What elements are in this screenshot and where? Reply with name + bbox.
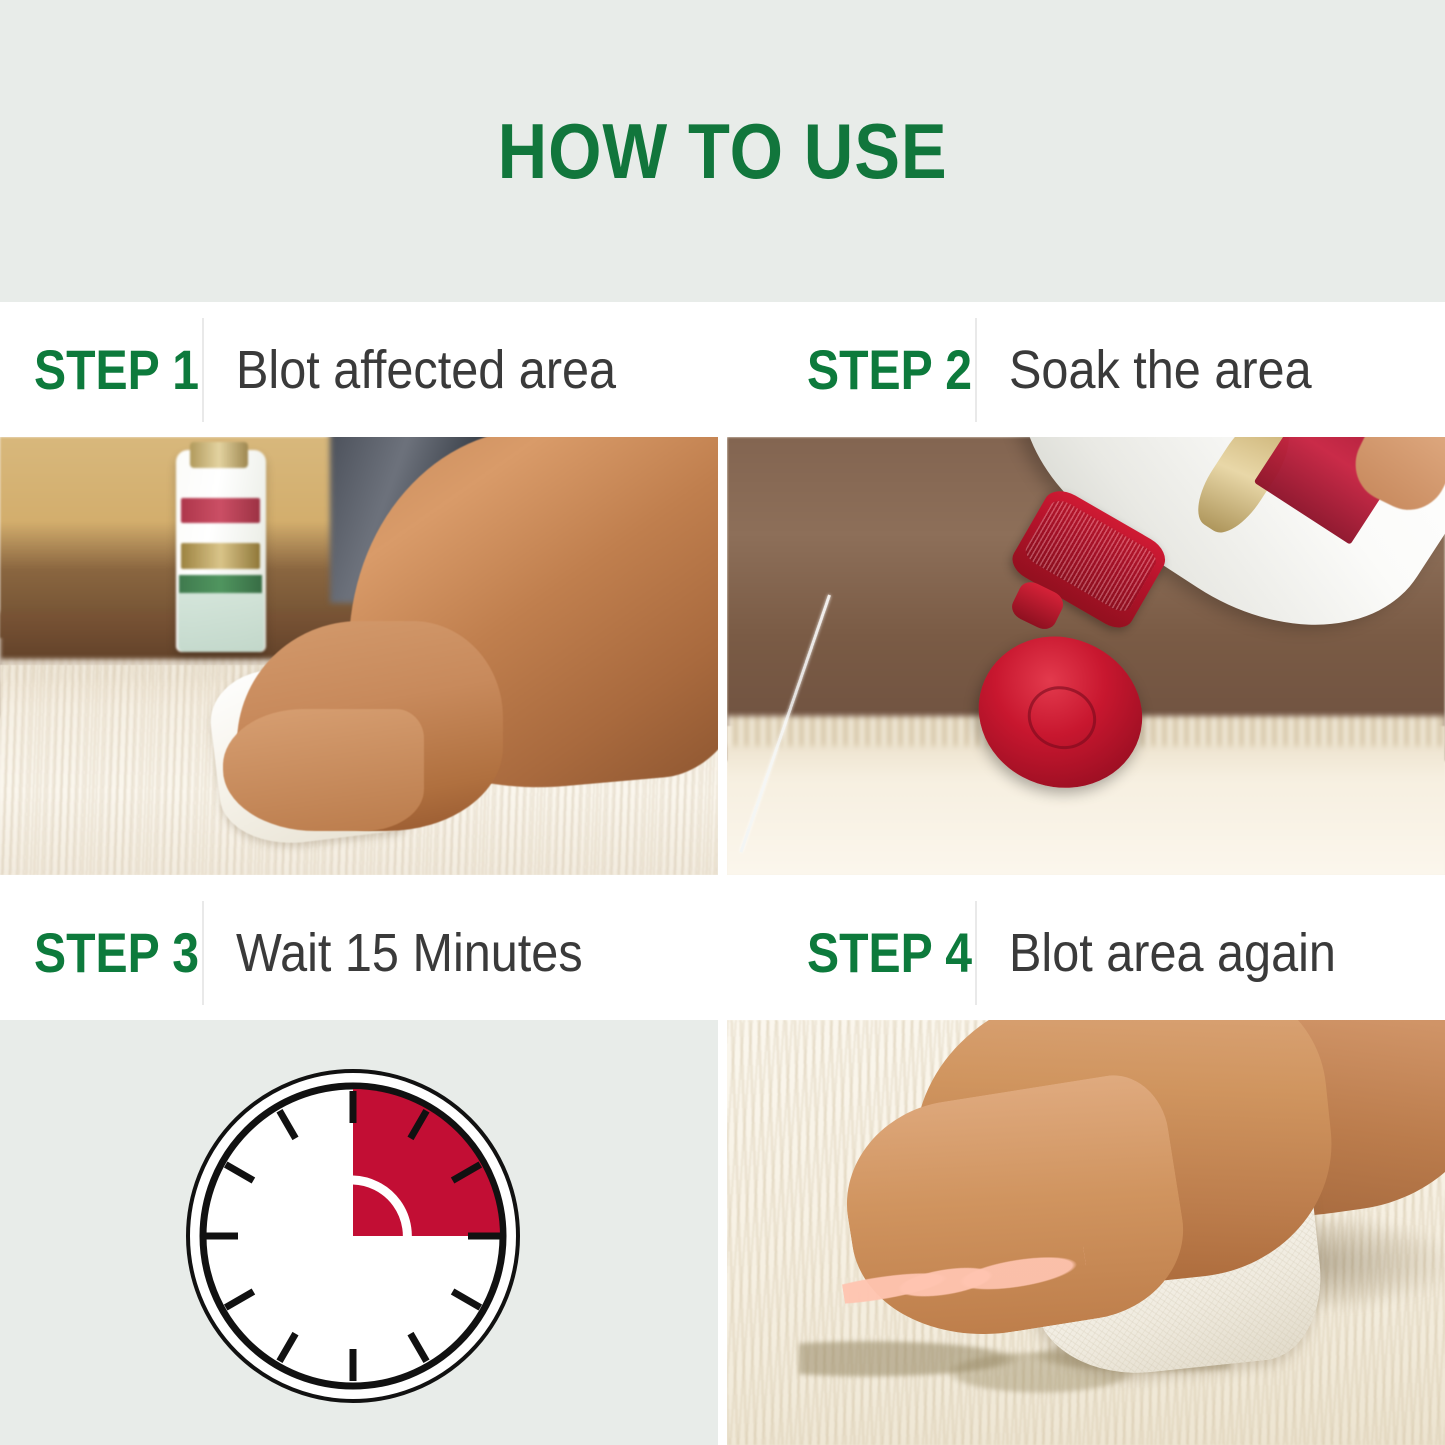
how-to-use-page: HOW TO USE STEP 1 Blot affected area xyxy=(0,0,1445,1445)
bottle-cap xyxy=(190,442,247,468)
step-1-photo xyxy=(0,437,718,875)
product-bottle xyxy=(176,450,266,651)
fingers xyxy=(223,709,424,832)
step-2-divider xyxy=(975,318,977,422)
bottle-gold-band xyxy=(181,543,260,569)
step-card-4: STEP 4 Blot area again xyxy=(727,885,1445,1445)
step-3-divider xyxy=(202,901,204,1005)
step-1-number: STEP 1 xyxy=(34,342,199,398)
page-header: HOW TO USE xyxy=(0,0,1445,302)
step-1-text: Blot affected area xyxy=(236,343,616,397)
clock-svg xyxy=(183,1066,523,1406)
bottle-lower-body xyxy=(178,593,264,651)
step-3-header: STEP 3 Wait 15 Minutes xyxy=(0,885,718,1020)
step-1-divider xyxy=(202,318,204,422)
step-4-header: STEP 4 Blot area again xyxy=(727,885,1445,1020)
step-1-header: STEP 1 Blot affected area xyxy=(0,302,718,437)
column-gutter xyxy=(718,302,727,1445)
page-title: HOW TO USE xyxy=(498,112,948,190)
step-4-photo xyxy=(727,1020,1445,1445)
step-card-1: STEP 1 Blot affected area xyxy=(0,302,718,875)
step-3-text: Wait 15 Minutes xyxy=(236,926,583,980)
bottle-green-band xyxy=(179,575,262,593)
step-3-illustration-panel xyxy=(0,1020,718,1445)
step-2-photo xyxy=(727,437,1445,875)
step-2-text: Soak the area xyxy=(1009,343,1312,397)
step-4-text: Blot area again xyxy=(1009,926,1336,980)
step-3-number: STEP 3 xyxy=(34,925,199,981)
clock-icon xyxy=(183,1066,523,1406)
step-card-3: STEP 3 Wait 15 Minutes xyxy=(0,885,718,1445)
bottle-brand-band xyxy=(181,498,260,522)
step-2-number: STEP 2 xyxy=(807,342,972,398)
step-2-header: STEP 2 Soak the area xyxy=(727,302,1445,437)
step-4-divider xyxy=(975,901,977,1005)
step-4-number: STEP 4 xyxy=(807,925,972,981)
row-gutter xyxy=(0,875,1445,885)
step-card-2: STEP 2 Soak the area xyxy=(727,302,1445,875)
